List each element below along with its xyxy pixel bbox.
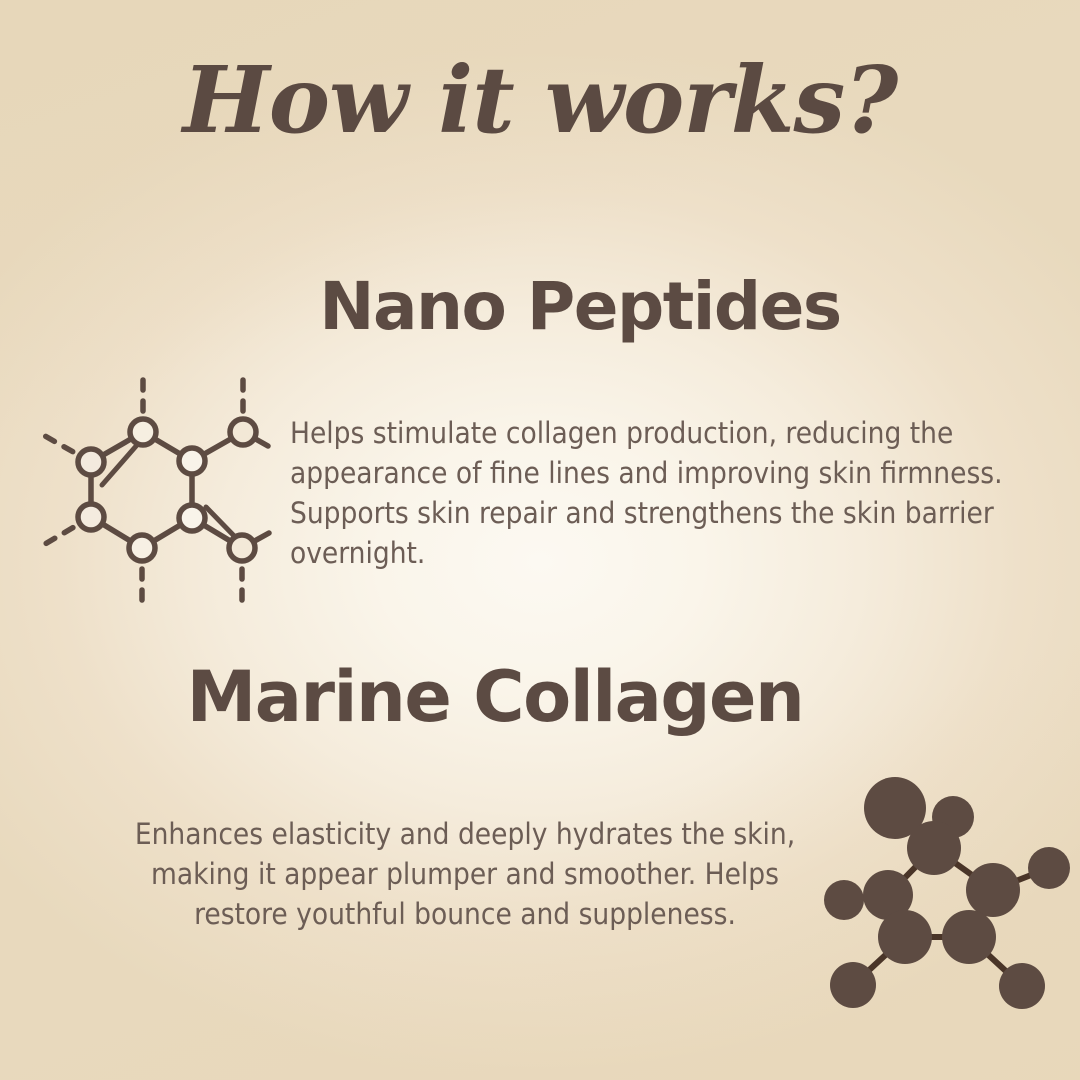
pentagon-molecule-filled-icon	[820, 770, 1080, 1020]
section-body-marine-collagen: Enhances elasticity and deeply hydrates …	[112, 814, 818, 934]
section-body-nano-peptides: Helps stimulate collagen production, red…	[290, 413, 1032, 573]
page-title: How it works?	[0, 52, 1080, 149]
section-heading-nano-peptides: Nano Peptides	[0, 274, 1080, 340]
hexagon-molecule-outline-icon	[30, 360, 280, 610]
section-heading-marine-collagen: Marine Collagen	[0, 662, 1080, 732]
poster-canvas: How it works? Nano Peptides Helps stimul…	[0, 0, 1080, 1080]
